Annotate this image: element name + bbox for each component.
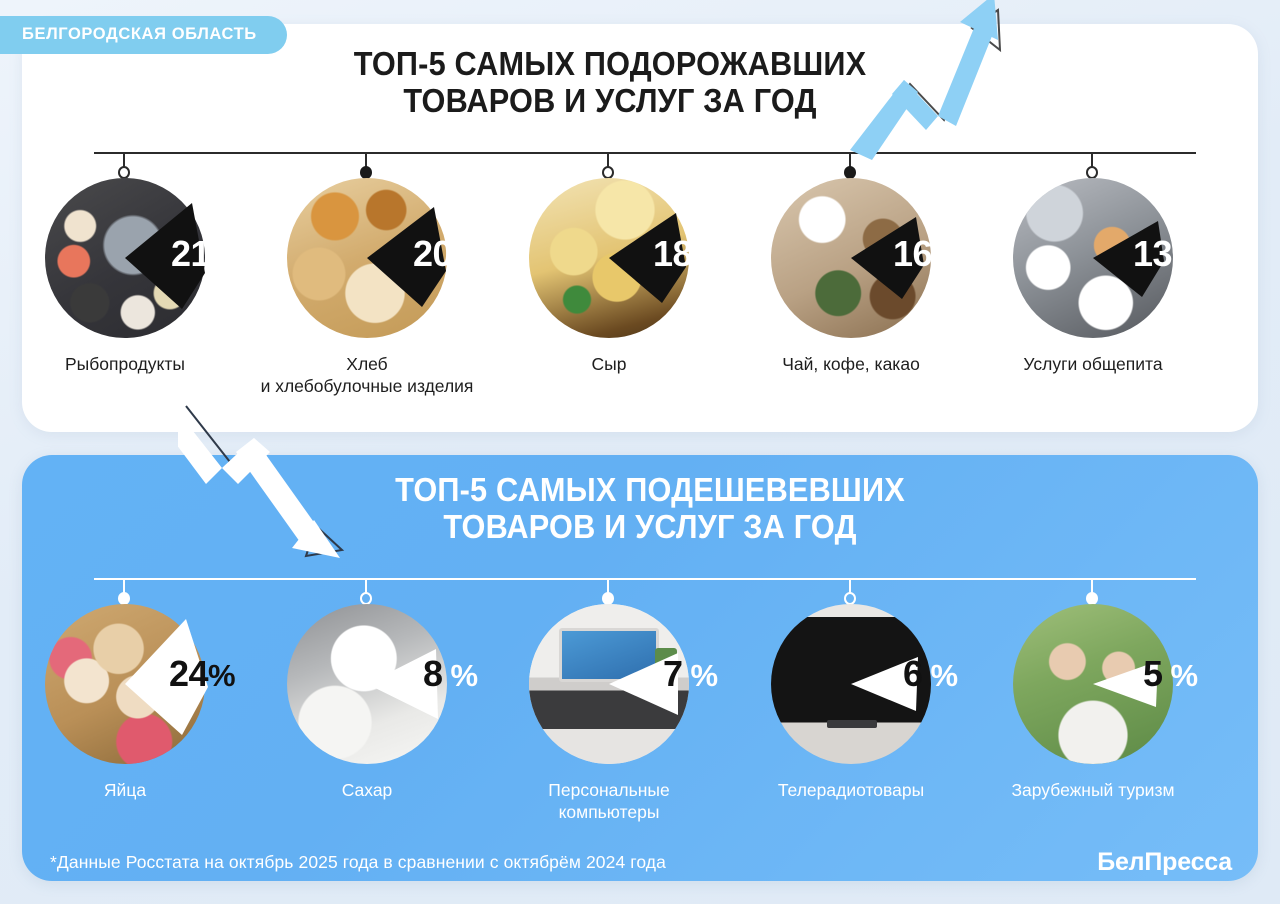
axis-tick-3 (607, 152, 609, 168)
value-number: 21 (171, 233, 210, 274)
item-catering-services[interactable]: 13% Услуги общепита (1013, 178, 1173, 338)
monitor-screen (559, 628, 659, 682)
value-label: 13% (1133, 236, 1199, 272)
axis-tick-1 (123, 152, 125, 168)
value-unit: % (452, 238, 479, 273)
value-label: 20% (413, 236, 479, 272)
trend-down-arrow-icon (178, 398, 378, 583)
value-unit: % (210, 238, 237, 273)
axis-line (94, 152, 1196, 154)
risers-title-line2: ТОВАРОВ И УСЛУГ ЗА ГОД (285, 83, 936, 120)
value-number: 20 (413, 233, 452, 274)
axis-tick-2 (365, 152, 367, 168)
value-label: 24% (169, 656, 235, 692)
value-number: 5 (1143, 653, 1163, 694)
region-badge: БЕЛГОРОДСКАЯ ОБЛАСТЬ (0, 16, 287, 54)
value-number: 16 (893, 233, 932, 274)
fallers-title-line2: ТОВАРОВ И УСЛУГ ЗА ГОД (325, 509, 976, 546)
axis-tick-5 (1091, 578, 1093, 594)
infographic-stage: БЕЛГОРОДСКАЯ ОБЛАСТЬ ТОП-5 САМЫХ ПОДОРОЖ… (0, 0, 1280, 904)
value-number: 7 (663, 653, 683, 694)
value-label: 16% (893, 236, 959, 272)
item-sugar[interactable]: 8% Сахар (287, 604, 447, 764)
value-unit: % (932, 238, 959, 273)
value-label: 7% (663, 656, 718, 692)
item-label-line1: Сахар (342, 780, 393, 800)
item-cheese[interactable]: 18% Сыр (529, 178, 689, 338)
value-number: 13 (1133, 233, 1172, 274)
axis-tick-4 (849, 578, 851, 594)
value-label: 5% (1143, 656, 1198, 692)
item-label-line2: компьютеры (459, 802, 759, 824)
footnote: *Данные Росстата на октябрь 2025 года в … (50, 852, 666, 873)
tv-stand (827, 720, 877, 728)
value-unit: % (208, 658, 235, 693)
value-label: 8% (423, 656, 478, 692)
item-label: Зарубежный туризм (943, 780, 1243, 802)
item-label: Услуги общепита (943, 354, 1243, 376)
item-label-line1: Рыбопродукты (65, 354, 185, 374)
item-bread[interactable]: 20% Хлеб и хлебобулочные изделия (287, 178, 447, 338)
value-number: 8 (423, 653, 443, 694)
item-foreign-tourism[interactable]: 5% Зарубежный туризм (1013, 604, 1173, 764)
fallers-title: ТОП-5 САМЫХ ПОДЕШЕВЕВШИХ ТОВАРОВ И УСЛУГ… (325, 472, 976, 546)
value-number: 18 (653, 233, 692, 274)
item-label-line1: Услуги общепита (1023, 354, 1162, 374)
value-unit: % (451, 658, 478, 693)
axis-tick-5 (1091, 152, 1093, 168)
item-tea-coffee-cocoa[interactable]: 16% Чай, кофе, какао (771, 178, 931, 338)
item-tv-radio-goods[interactable]: 6% Телерадиотовары (771, 604, 931, 764)
axis-tick-3 (607, 578, 609, 594)
value-number: 24 (169, 653, 208, 694)
value-number: 6 (903, 653, 923, 694)
item-label-line1: Хлеб (346, 354, 387, 374)
value-unit: % (691, 658, 718, 693)
item-label-line1: Сыр (592, 354, 627, 374)
value-unit: % (1172, 238, 1199, 273)
value-unit: % (1171, 658, 1198, 693)
fallers-title-line1: ТОП-5 САМЫХ ПОДЕШЕВЕВШИХ (325, 472, 976, 509)
value-label: 18% (653, 236, 719, 272)
item-label-line1: Яйца (104, 780, 146, 800)
item-eggs[interactable]: 24% Яйца (45, 604, 205, 764)
value-unit: % (931, 658, 958, 693)
item-personal-computers[interactable]: 7% Персональные компьютеры (529, 604, 689, 764)
item-label-line1: Чай, кофе, какао (782, 354, 920, 374)
item-fish-products[interactable]: 21% Рыбопродукты (45, 178, 205, 338)
item-label-line2: и хлебобулочные изделия (217, 376, 517, 398)
value-label: 6% (903, 656, 958, 692)
risers-title: ТОП-5 САМЫХ ПОДОРОЖАВШИХ ТОВАРОВ И УСЛУГ… (285, 46, 936, 120)
value-unit: % (692, 238, 719, 273)
item-label-line1: Телерадиотовары (778, 780, 924, 800)
item-label-line1: Персональные (548, 780, 669, 800)
axis-tick-1 (123, 578, 125, 594)
value-label: 21% (171, 236, 237, 272)
item-label-line1: Зарубежный туризм (1011, 780, 1174, 800)
risers-title-line1: ТОП-5 САМЫХ ПОДОРОЖАВШИХ (285, 46, 936, 83)
trend-up-arrow-icon (848, 0, 1028, 167)
brand-logo: БелПресса (1097, 848, 1232, 877)
